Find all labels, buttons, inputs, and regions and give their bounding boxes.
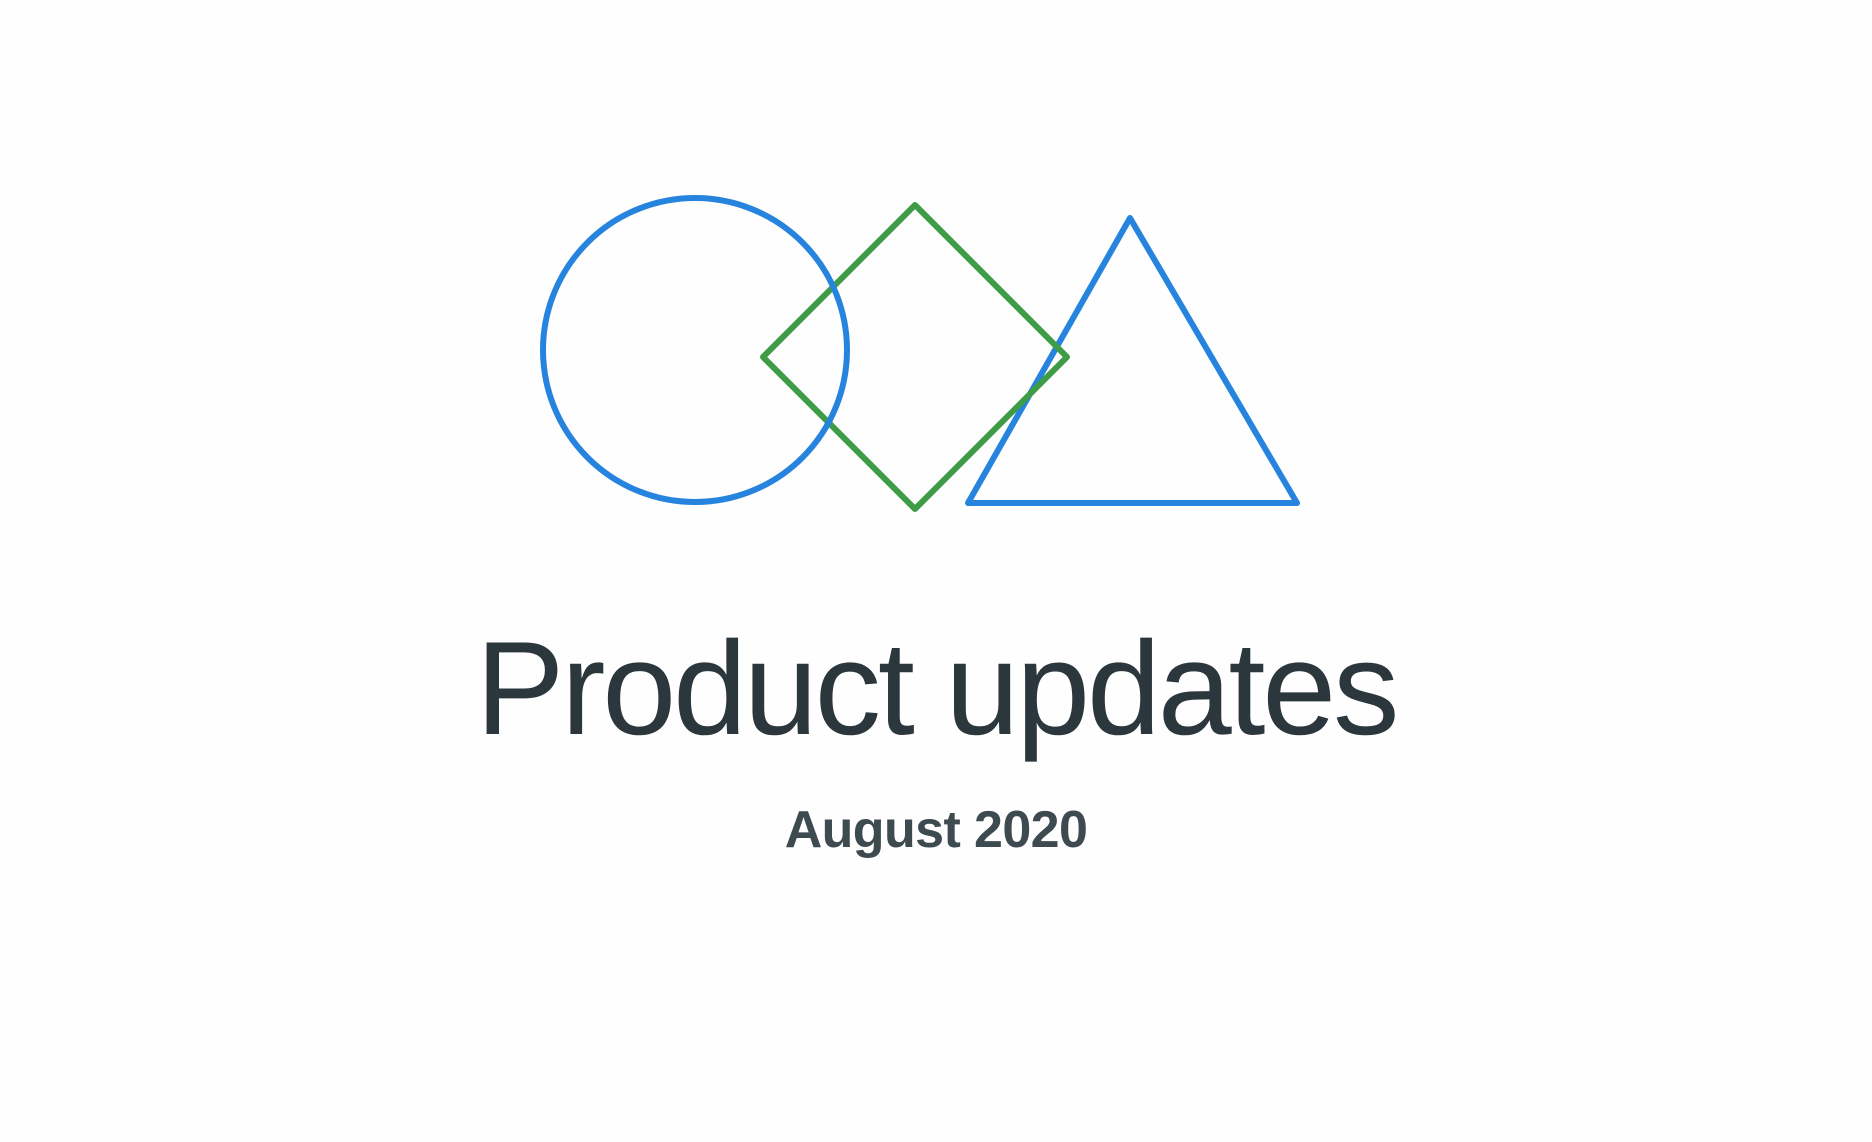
page-title: Product updates — [0, 620, 1872, 760]
triangle-icon — [968, 218, 1297, 503]
slide-date-subtitle: August 2020 — [0, 760, 1872, 859]
circle-icon — [543, 198, 847, 502]
diamond-icon — [763, 205, 1067, 509]
logo-svg — [0, 0, 1872, 600]
three-shapes-logo — [0, 0, 1872, 600]
slide-canvas: Product updates August 2020 — [0, 0, 1872, 1142]
slide-text-block: Product updates August 2020 — [0, 620, 1872, 859]
